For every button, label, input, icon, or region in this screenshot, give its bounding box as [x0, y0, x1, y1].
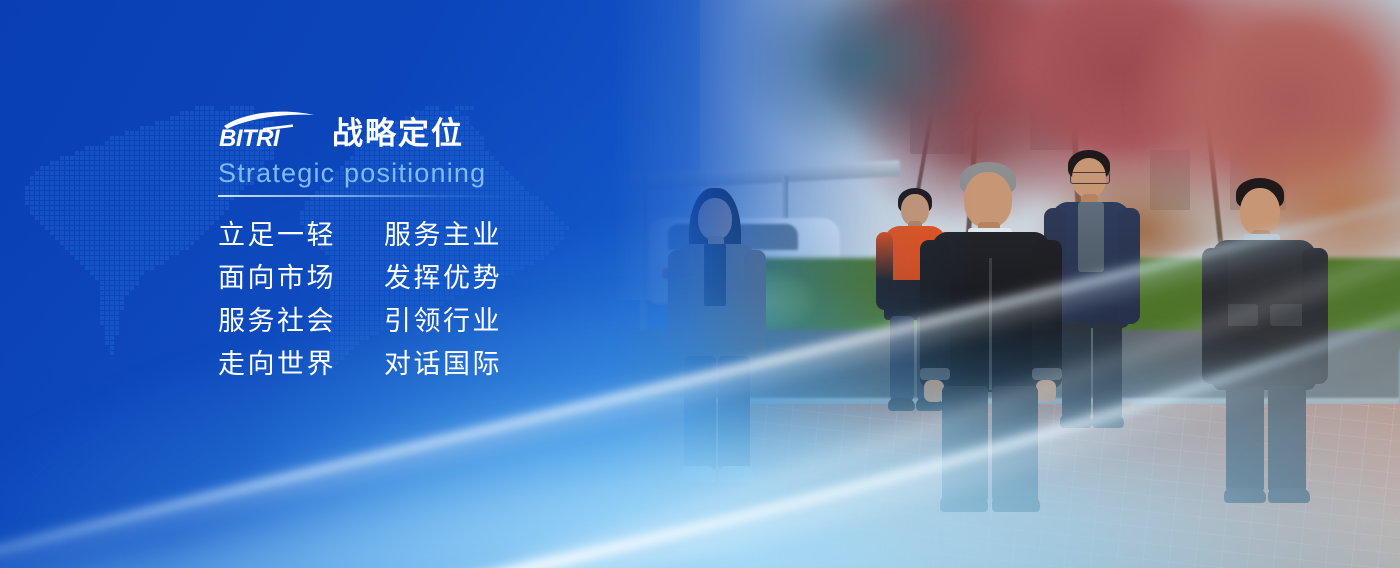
brand-subtitle-en: Strategic positioning	[218, 157, 648, 189]
photo-eyeglasses	[1070, 172, 1110, 184]
photo-jacket-pocket	[1270, 304, 1306, 326]
slogan-row: 服务社会 引领行业	[218, 300, 648, 343]
person-woman-grey-jacket	[662, 188, 772, 488]
photo-hand	[1036, 380, 1056, 402]
slogan-row: 面向市场 发挥优势	[218, 257, 648, 300]
slogan-list: 立足一轻 服务主业 面向市场 发挥优势 服务社会 引领行业 走向世界 对话国际	[218, 214, 648, 386]
person-man-dark-jacket-right	[1202, 178, 1328, 500]
slogan-row: 立足一轻 服务主业	[218, 214, 648, 257]
strategic-positioning-banner: BITRI 战略定位 Strategic positioning 立足一轻 服务…	[0, 0, 1400, 568]
slogan-right: 服务主业	[384, 214, 502, 257]
person-man-black-jacket-lead	[916, 162, 1066, 506]
slogan-left: 走向世界	[218, 343, 384, 386]
slogan-left: 面向市场	[218, 257, 384, 300]
slogan-row: 走向世界 对话国际	[218, 343, 648, 386]
campus-walk-photo	[610, 0, 1400, 568]
slogan-right: 对话国际	[384, 343, 502, 386]
photo-jacket-cuff	[920, 368, 950, 380]
brand-title-cn: 战略定位	[332, 117, 464, 152]
slogan-right: 发挥优势	[384, 257, 502, 300]
banner-content: BITRI 战略定位 Strategic positioning 立足一轻 服务…	[218, 106, 648, 386]
title-divider	[218, 195, 518, 197]
slogan-right: 引领行业	[384, 300, 502, 343]
photo-jacket-zipper	[989, 258, 992, 390]
slogan-left: 立足一轻	[218, 214, 384, 257]
photo-jacket-cuff	[1032, 368, 1062, 380]
photo-hand	[924, 380, 944, 402]
brand-lockup: BITRI 战略定位	[218, 106, 648, 152]
slogan-left: 服务社会	[218, 300, 384, 343]
bitri-swoosh-logo-icon: BITRI	[218, 108, 318, 152]
